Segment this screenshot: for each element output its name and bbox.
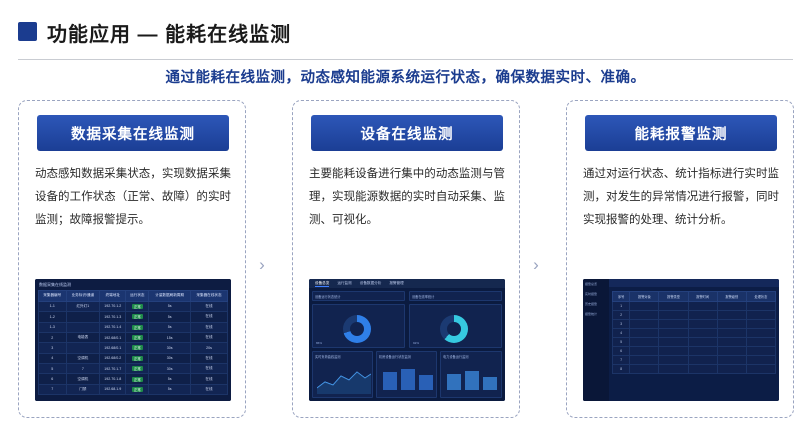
panel-room-status: 机房设备运行状态监测 [376, 351, 437, 398]
table-cell [746, 338, 775, 347]
card-screenshot-alarm: 报警总览 实时报警 历史报警 报警统计 序号 报警对象 报警类型 报警时间 报警… [583, 279, 779, 401]
col-0: 序号 [613, 292, 630, 302]
card-header: 设备在线监测 [311, 115, 503, 151]
table-cell [746, 365, 775, 374]
table-cell: 4 [39, 353, 67, 363]
col-1: 业务标识/通道 [66, 291, 100, 302]
panel-strip-left: 设备运行状态统计 [312, 291, 405, 301]
alarm-table: 序号 报警对象 报警类型 报警时间 报警级别 处理状态 1 2 3 4 5 6 … [612, 291, 776, 374]
table-row: 8 [613, 365, 776, 374]
sidebar-item-2: 历史报警 [583, 299, 609, 309]
tab-3: 报警管理 [389, 281, 403, 286]
collection-table: 采集器编号 业务标识/通道 终端地址 运行状态 计量数据刷新周期 采集器在线状态… [38, 290, 228, 395]
table-cell: 空调机 [66, 374, 100, 384]
table-cell: 正常 [126, 353, 149, 363]
table-cell: 1-3 [39, 322, 67, 332]
table-cell: 192.68/0.1 [100, 343, 126, 353]
table-cell [717, 311, 746, 320]
table-cell: 正常 [126, 343, 149, 353]
panel-title: 机房设备运行状态监测 [379, 354, 411, 359]
card-screenshot-table: 数据采集在线监测 采集器编号 业务标识/通道 终端地址 运行状态 计量数据刷新周… [35, 279, 231, 401]
power-monitor-chart [445, 364, 499, 394]
table-cell [630, 347, 659, 356]
table-cell: 在线 [190, 364, 227, 374]
panel-donut-left: 86% [312, 304, 405, 348]
table-cell [659, 320, 688, 329]
panel-title: 设备运行状态统计 [315, 294, 341, 299]
table-cell: 在线 [190, 301, 227, 311]
donut-hole-left [350, 322, 364, 336]
table-cell [717, 302, 746, 311]
table-cell: 1-2 [39, 312, 67, 322]
table-row: 7 [613, 356, 776, 365]
table-row: 57192.70.1.7正常30s在线 [39, 364, 228, 374]
table-cell [688, 302, 717, 311]
page-title: 功能应用 — 能耗在线监测 [47, 18, 291, 47]
table-cell: 5 [613, 338, 630, 347]
table-cell: 192.68.1.9 [100, 384, 126, 394]
table-cell [66, 343, 100, 353]
table-cell: 192.70.1.3 [100, 312, 126, 322]
table-cell: 3 [613, 320, 630, 329]
alarm-sidebar: 报警总览 实时报警 历史报警 报警统计 [583, 279, 609, 401]
table-cell: 正常 [126, 364, 149, 374]
table-cell: 5s [149, 384, 191, 394]
card-description: 通过对运行状态、统计指标进行实时监测，对发生的异常情况进行报警，同时实现报警的处… [583, 163, 779, 232]
table-cell: 1 [613, 302, 630, 311]
col-5: 处理状态 [746, 292, 775, 302]
panel-load-curve: 实时负荷曲线监测 [312, 351, 373, 398]
sidebar-item-0: 报警总览 [583, 279, 609, 289]
table-cell [746, 347, 775, 356]
table-cell: 5 [39, 364, 67, 374]
table-cell: 15s [149, 332, 191, 342]
table-cell [66, 312, 100, 322]
card-description: 主要能耗设备进行集中的动态监测与管理，实现能源数据的实时自动采集、监测、可视化。 [309, 163, 505, 232]
col-2: 终端地址 [100, 291, 126, 302]
table-cell [630, 320, 659, 329]
table-body: 1 2 3 4 5 6 7 8 [613, 302, 776, 374]
table-row: 3 [613, 320, 776, 329]
table-cell: 5s [149, 301, 191, 311]
table-cell: 正常 [126, 384, 149, 394]
card-header: 能耗报警监测 [585, 115, 777, 151]
table-cell: 7 [66, 364, 100, 374]
table-cell: 5s [149, 312, 191, 322]
table-row: 4空调机192.68/0.2正常30s在线 [39, 353, 228, 363]
table-cell [630, 356, 659, 365]
table-cell: 192.70.1.8 [100, 374, 126, 384]
table-cell: 192.70.1.7 [100, 364, 126, 374]
table-cell [717, 320, 746, 329]
arrow-icon-2: › [526, 255, 546, 275]
table-cell: 192.68/0.2 [100, 353, 126, 363]
card-data-collection: 数据采集在线监测 动态感知数据采集状态，实现数据采集设备的工作状态（正常、故障）… [18, 100, 246, 418]
table-cell [717, 365, 746, 374]
table-cell: 20s [190, 343, 227, 353]
table-cell: 7 [613, 356, 630, 365]
table-cell [746, 311, 775, 320]
card-description: 动态感知数据采集状态，实现数据采集设备的工作状态（正常、故障）的实时监测；故障报… [35, 163, 231, 232]
panel-power-monitor: 电力设备运行监测 [440, 351, 502, 398]
table-cell [717, 329, 746, 338]
table-cell [688, 338, 717, 347]
table-cell [746, 329, 775, 338]
table-cell: 192.68/0.1 [100, 332, 126, 342]
col-2: 报警类型 [659, 292, 688, 302]
table-cell: 7 [39, 384, 67, 394]
room-status-chart [381, 364, 435, 394]
panel-title: 实时负荷曲线监测 [315, 354, 341, 359]
table-cell: 30s [149, 353, 191, 363]
table-cell [717, 338, 746, 347]
table-cell [659, 329, 688, 338]
table-row: 4 [613, 329, 776, 338]
table-cell: 空调机 [66, 353, 100, 363]
arrow-icon-1: › [252, 255, 272, 275]
alarm-toolbar [609, 279, 779, 287]
table-row: 1 [613, 302, 776, 311]
table-cell: 6 [613, 347, 630, 356]
page-subtitle: 通过能耗在线监测，动态感知能源系统运行状态，确保数据实时、准确。 [0, 66, 811, 87]
sidebar-item-1: 实时报警 [583, 289, 609, 299]
table-row: 1-1红外灯1192.70.1.2正常5s在线 [39, 301, 228, 311]
table-cell [688, 329, 717, 338]
load-curve-chart [317, 364, 371, 394]
table-header-row: 采集器编号 业务标识/通道 终端地址 运行状态 计量数据刷新周期 采集器在线状态 [39, 291, 228, 302]
table-cell: 2 [39, 332, 67, 342]
card-title: 能耗报警监测 [635, 123, 728, 144]
table-cell [659, 302, 688, 311]
dashboard-tabs: 设备总览 运行监测 设备数据分析 报警管理 [309, 279, 505, 288]
panel-donut-right: 92% [409, 304, 502, 348]
table-cell: 8 [613, 365, 630, 374]
table-row: 7门禁192.68.1.9正常5s在线 [39, 384, 228, 394]
header-square-icon [18, 22, 37, 41]
table-cell [717, 347, 746, 356]
table-cell: 在线 [190, 312, 227, 322]
table-cell: 192.70.1.2 [100, 301, 126, 311]
table-cell [688, 311, 717, 320]
table-cell: 在线 [190, 322, 227, 332]
table-cell [630, 311, 659, 320]
card-title: 数据采集在线监测 [71, 123, 195, 144]
col-3: 报警时间 [688, 292, 717, 302]
table-row: 1-3192.70.1.4正常5s在线 [39, 322, 228, 332]
table-cell [630, 338, 659, 347]
page-header: 功能应用 — 能耗在线监测 [0, 14, 811, 50]
table-cell: 3 [39, 343, 67, 353]
table-cell: 4 [613, 329, 630, 338]
table-cell [659, 365, 688, 374]
table-cell [688, 320, 717, 329]
card-header: 数据采集在线监测 [37, 115, 229, 151]
panel-value-left: 86% [316, 341, 322, 345]
col-3: 运行状态 [126, 291, 149, 302]
table-cell [659, 338, 688, 347]
header-divider [18, 59, 793, 60]
table-cell [66, 322, 100, 332]
table-cell [659, 356, 688, 365]
table-cell: 正常 [126, 374, 149, 384]
table-cell [688, 347, 717, 356]
table-body: 1-1红外灯1192.70.1.2正常5s在线1-2192.70.1.3正常5s… [39, 301, 228, 394]
table-cell [746, 356, 775, 365]
table-cell [630, 302, 659, 311]
panel-value-right: 92% [413, 341, 419, 345]
table-cell: 5s [149, 322, 191, 332]
table-cell [717, 356, 746, 365]
table-cell: 在线 [190, 332, 227, 342]
table-cell: 正常 [126, 332, 149, 342]
table-cell: 1-1 [39, 301, 67, 311]
table-cell: 正常 [126, 322, 149, 332]
table-cell: 正常 [126, 301, 149, 311]
panel-title: 电力设备运行监测 [443, 354, 469, 359]
table-cell: 5s [149, 374, 191, 384]
donut-hole-right [447, 322, 461, 336]
col-4: 计量数据刷新周期 [149, 291, 191, 302]
col-5: 采集器在线状态 [190, 291, 227, 302]
table-cell [659, 311, 688, 320]
panel-title: 设备在线率统计 [412, 294, 434, 299]
table-cell [688, 356, 717, 365]
table-row: 6空调机192.70.1.8正常5s在线 [39, 374, 228, 384]
table-cell: 2 [613, 311, 630, 320]
table-header-row: 序号 报警对象 报警类型 报警时间 报警级别 处理状态 [613, 292, 776, 302]
col-1: 报警对象 [630, 292, 659, 302]
table-cell: 在线 [190, 353, 227, 363]
table-row: 5 [613, 338, 776, 347]
table-cell [746, 302, 775, 311]
tab-1: 运行监测 [337, 281, 351, 286]
card-screenshot-dashboard: 设备总览 运行监测 设备数据分析 报警管理 设备运行状态统计 设备在线率统计 8… [309, 279, 505, 401]
table-cell [746, 320, 775, 329]
panel-strip-right: 设备在线率统计 [409, 291, 502, 301]
table-row: 1-2192.70.1.3正常5s在线 [39, 312, 228, 322]
card-device-monitoring: 设备在线监测 主要能耗设备进行集中的动态监测与管理，实现能源数据的实时自动采集、… [292, 100, 520, 418]
table-cell: 门禁 [66, 384, 100, 394]
table-cell: 192.70.1.4 [100, 322, 126, 332]
table-cell [659, 347, 688, 356]
tab-0: 设备总览 [315, 281, 329, 287]
tab-2: 设备数据分析 [360, 281, 382, 286]
table-row: 2电能表192.68/0.1正常15s在线 [39, 332, 228, 342]
table-cell: 电能表 [66, 332, 100, 342]
col-4: 报警级别 [717, 292, 746, 302]
card-title: 设备在线监测 [361, 123, 454, 144]
table-cell: 红外灯1 [66, 301, 100, 311]
table-cell [630, 365, 659, 374]
table-row: 3192.68/0.1正常30s20s [39, 343, 228, 353]
table-cell [630, 329, 659, 338]
table-cell: 正常 [126, 312, 149, 322]
table-cell: 30s [149, 343, 191, 353]
card-energy-alarm: 能耗报警监测 通过对运行状态、统计指标进行实时监测，对发生的异常情况进行报警，同… [566, 100, 794, 418]
table-cell: 6 [39, 374, 67, 384]
screenshot-caption: 数据采集在线监测 [39, 282, 71, 288]
table-cell: 在线 [190, 384, 227, 394]
table-cell: 30s [149, 364, 191, 374]
col-0: 采集器编号 [39, 291, 67, 302]
table-cell: 在线 [190, 374, 227, 384]
table-cell [688, 365, 717, 374]
sidebar-item-3: 报警统计 [583, 309, 609, 319]
table-row: 6 [613, 347, 776, 356]
table-row: 2 [613, 311, 776, 320]
